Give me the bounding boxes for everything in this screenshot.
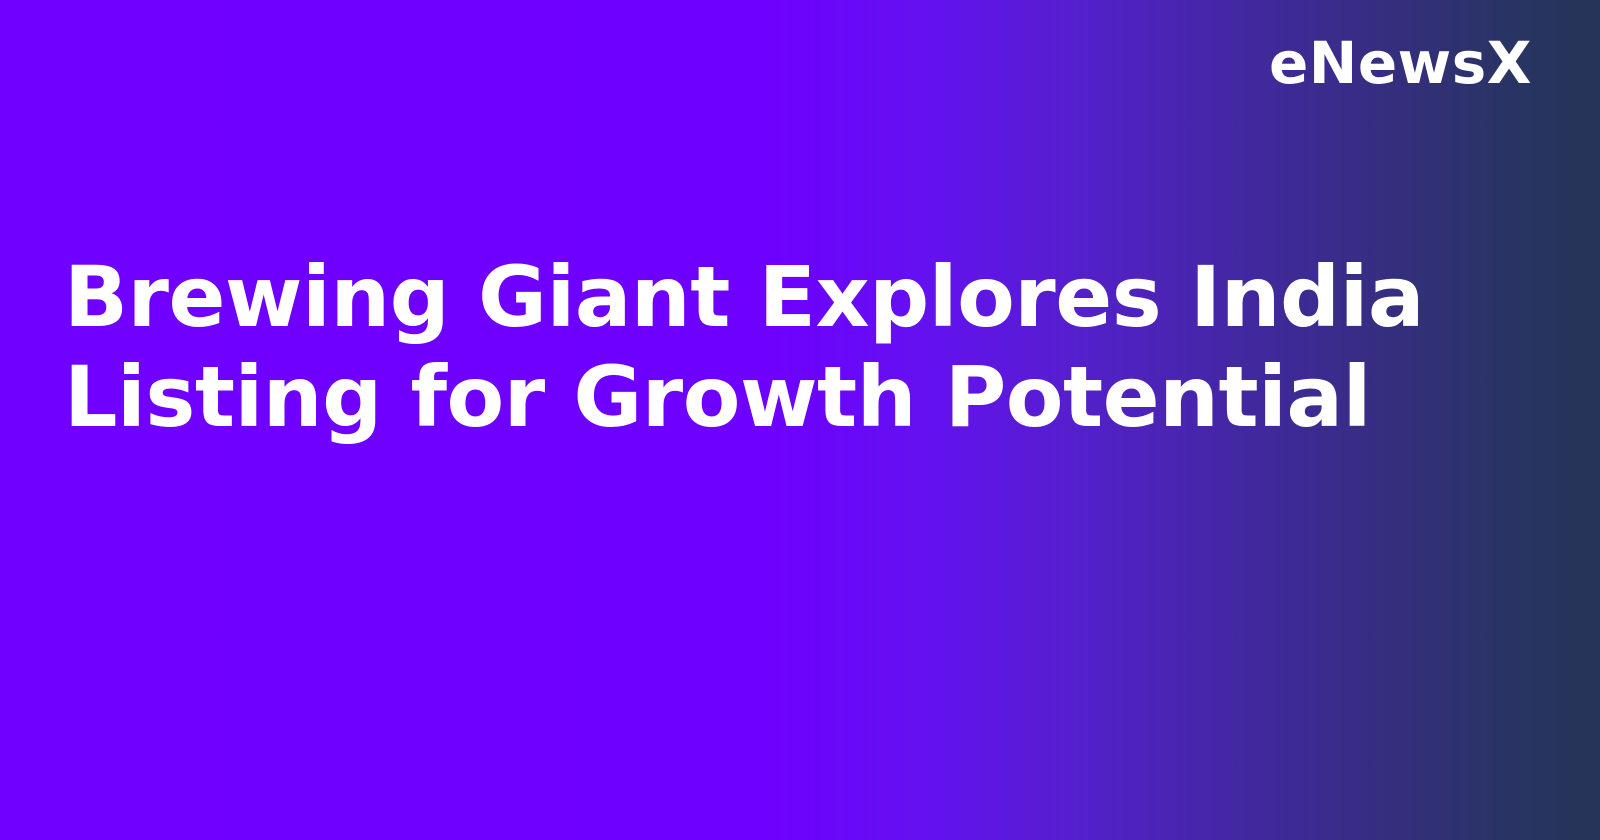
brand-logo[interactable]: eNewsX: [1269, 30, 1532, 96]
news-card: eNewsX Brewing Giant Explores India List…: [0, 0, 1600, 840]
headline-block: Brewing Giant Explores India Listing for…: [64, 247, 1484, 447]
brand-wordmark: eNewsX: [1269, 34, 1532, 92]
page-title: Brewing Giant Explores India Listing for…: [64, 247, 1484, 447]
